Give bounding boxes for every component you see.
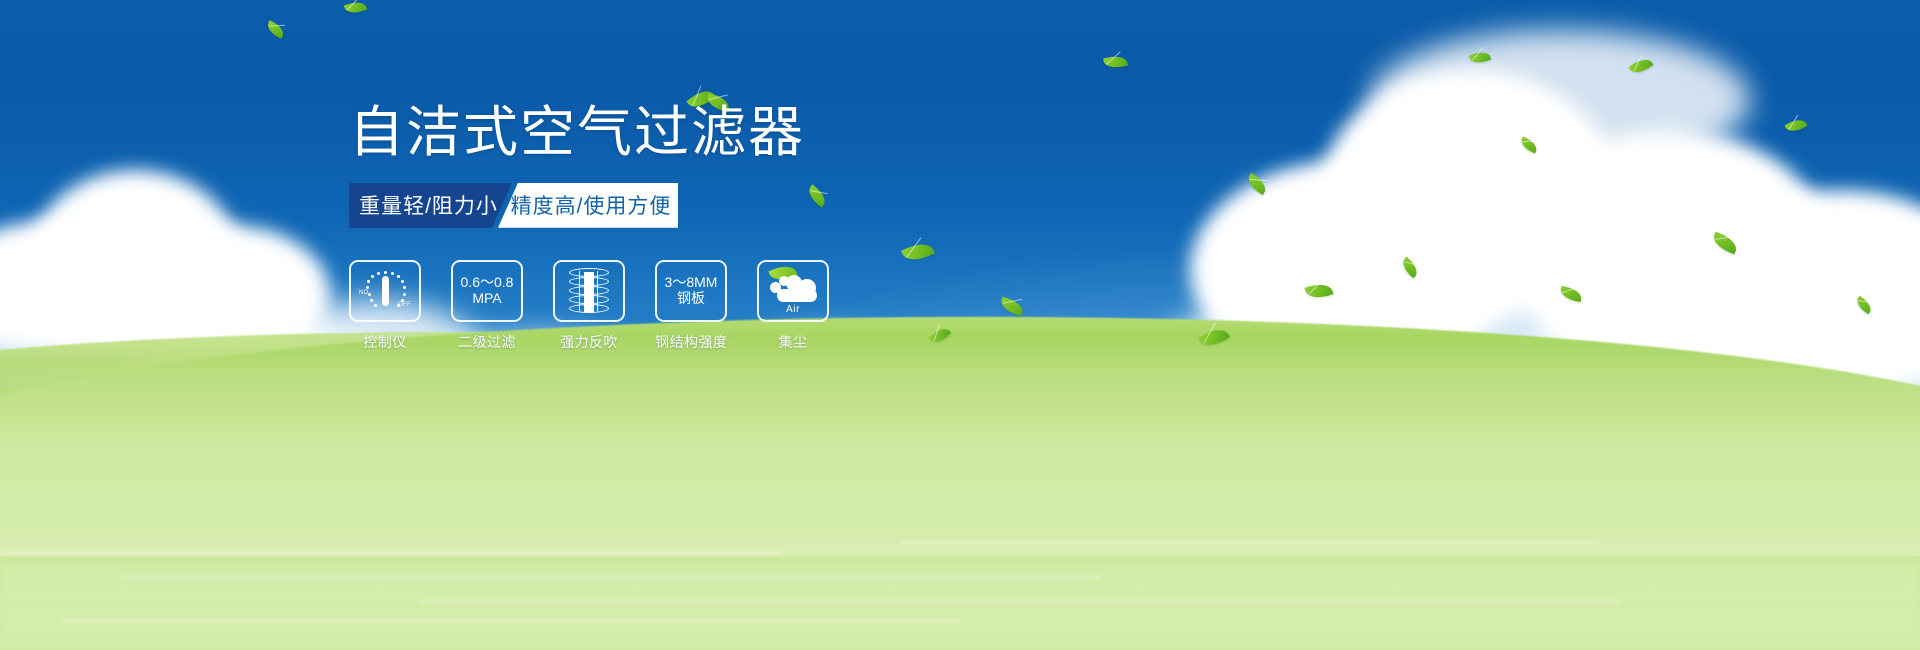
- hill-front: [0, 317, 1920, 556]
- feature-item-blowback[interactable]: 强力反吹: [553, 260, 625, 352]
- page-title: 自洁式空气过滤器: [349, 104, 1049, 162]
- feature-icon-box: 0.6～0.8 MPA: [451, 260, 523, 322]
- steel-thickness-text: 3～8MM: [665, 275, 718, 291]
- feature-item-pressure[interactable]: 0.6～0.8 MPA 二级过滤: [451, 260, 523, 352]
- feature-label: 二级过滤: [451, 332, 523, 352]
- banner-content: 自洁式空气过滤器 重量轻/阻力小 精度高/使用方便: [349, 104, 1049, 352]
- steel-material-text: 钢板: [677, 291, 705, 307]
- gauge-on-label: NO: [359, 290, 369, 296]
- feature-icon-box: [553, 260, 625, 322]
- hero-banner: 自洁式空气过滤器 重量轻/阻力小 精度高/使用方便: [0, 0, 1920, 650]
- air-cloud-icon: Air: [766, 268, 820, 314]
- feature-label: 控制仪: [349, 332, 421, 352]
- filter-cartridge-icon: [569, 268, 609, 314]
- gauge-off-label: OFF: [398, 302, 411, 308]
- air-label: Air: [766, 304, 820, 315]
- pressure-range-text: 0.6～0.8: [461, 275, 514, 291]
- pressure-unit-text: MPA: [472, 291, 501, 307]
- feature-item-controller[interactable]: NO OFF 控制仪: [349, 260, 421, 352]
- feature-icon-box: 3～8MM 钢板: [655, 260, 727, 322]
- feature-label: 强力反吹: [553, 332, 625, 352]
- feature-item-steel[interactable]: 3～8MM 钢板 钢结构强度: [655, 260, 727, 352]
- feature-icon-box: NO OFF: [349, 260, 421, 322]
- tag-weight-resistance[interactable]: 重量轻/阻力小: [349, 183, 512, 228]
- feature-label: 集尘: [757, 332, 829, 352]
- feature-icon-box: Air: [757, 260, 829, 322]
- tag-precision-convenience[interactable]: 精度高/使用方便: [498, 183, 678, 228]
- feature-row: NO OFF 控制仪 0.6～0.8 MPA 二级过滤: [349, 260, 1049, 352]
- gauge-icon: NO OFF: [359, 268, 411, 314]
- feature-label: 钢结构强度: [655, 332, 727, 352]
- feature-item-dust[interactable]: Air 集尘: [757, 260, 829, 352]
- field-foreground: [0, 530, 1920, 650]
- tag-row: 重量轻/阻力小 精度高/使用方便: [349, 183, 1049, 228]
